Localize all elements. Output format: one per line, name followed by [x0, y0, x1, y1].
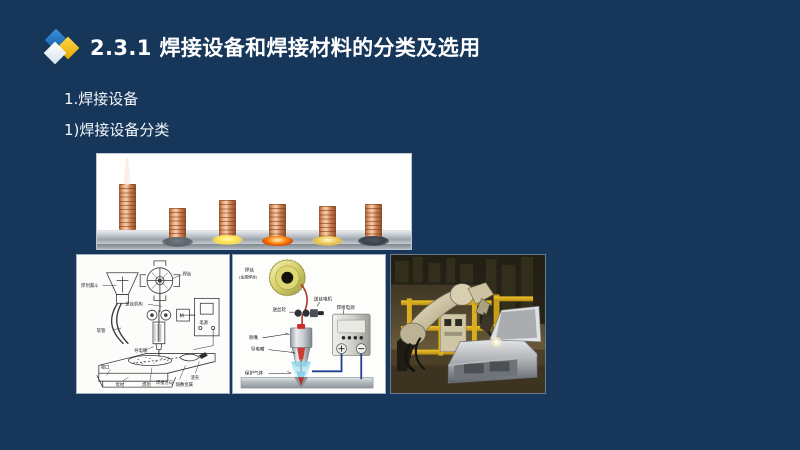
diamond-cluster-icon — [44, 28, 84, 66]
stud-4 — [269, 204, 286, 241]
slide-title-row: 2.3.1 焊接设备和焊接材料的分类及选用 — [44, 28, 481, 66]
gmaw-label-contact-tip: 导电嘴 — [251, 346, 265, 353]
subheading-equipment-classification: 1)焊接设备分类 — [64, 119, 169, 140]
submerged-arc-welding-diagram: 焊剂漏斗 焊丝 送丝机构 M 电源 软管 导电嘴 坡口 母材 焊剂 焊接方向 渣… — [76, 254, 230, 394]
saw-label-wire-feed: 送丝机构 — [125, 300, 143, 307]
stud-6 — [365, 204, 382, 241]
stud-welding-sequence-photo — [96, 153, 412, 250]
stud-3 — [219, 200, 236, 240]
gmaw-label-shielding-gas: 保护气体 — [245, 369, 264, 376]
weld-flash-grey — [162, 237, 193, 247]
stud-5 — [319, 206, 336, 241]
gmaw-label-metal-wire: (金属焊丝) — [239, 275, 258, 280]
saw-label-groove: 坡口 — [101, 363, 110, 370]
stud-2 — [169, 208, 186, 242]
saw-label-welding-wire: 焊丝 — [183, 271, 192, 278]
saw-label-power-source: 电源 — [199, 319, 208, 326]
page-title: 2.3.1 焊接设备和焊接材料的分类及选用 — [90, 32, 481, 62]
weld-flash-yellow — [212, 235, 243, 245]
subheading-welding-equipment: 1.焊接设备 — [64, 88, 138, 109]
weld-flash-orange — [262, 236, 293, 246]
saw-label-contact-tip: 导电嘴 — [134, 347, 148, 354]
stud-body — [119, 184, 136, 230]
saw-label-weld-direction: 焊接方向 — [156, 379, 173, 386]
welding-power-source — [333, 314, 370, 355]
gmaw-label-power-source: 焊接电源 — [337, 304, 356, 311]
weld-flash-gold — [312, 236, 343, 246]
saw-label-slag: 渣壳 — [190, 374, 199, 381]
saw-label-motor: M — [180, 314, 184, 320]
wire-reel — [270, 260, 305, 295]
stud-1 — [119, 184, 136, 230]
gmaw-label-welding-wire: 焊丝 — [245, 267, 255, 274]
gmaw-label-nozzle: 喷嘴 — [249, 334, 259, 341]
robotic-welding-line-photo — [390, 254, 546, 394]
saw-label-flux-hopper: 焊剂漏斗 — [81, 282, 99, 289]
saw-label-hose: 软管 — [97, 327, 106, 334]
gmaw-label-wire-feed-roller: 送丝轮 — [273, 306, 287, 313]
saw-label-base-metal: 母材 — [116, 381, 125, 388]
gmaw-label-wire-feed-motor: 送丝电机 — [314, 295, 333, 302]
saw-label-flux: 焊剂 — [142, 381, 151, 388]
saw-label-deposited-metal: 熔敷金属 — [176, 381, 193, 388]
gas-metal-arc-welding-diagram: 焊丝 (金属焊丝) 送丝电机 送丝轮 焊接电源 喷嘴 导电嘴 保护气体 — [232, 254, 386, 394]
weld-flash-dark — [358, 236, 389, 246]
